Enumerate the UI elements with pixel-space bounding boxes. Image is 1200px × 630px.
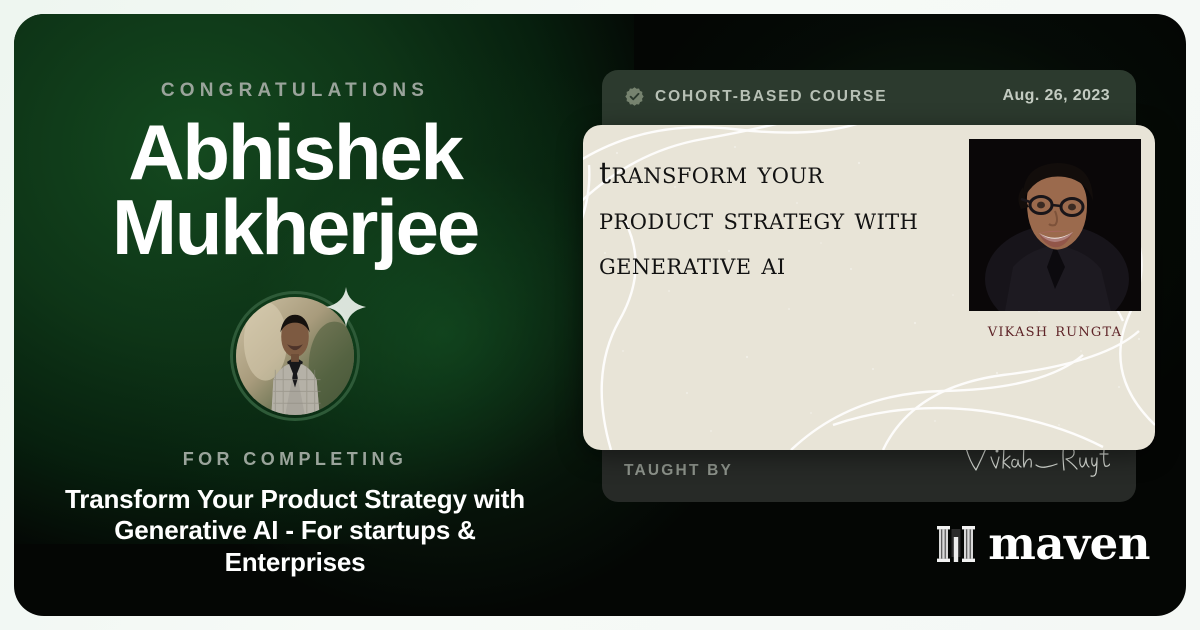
sparkle-icon — [322, 283, 370, 331]
for-completing-label: FOR COMPLETING — [183, 449, 408, 470]
maven-logo[interactable]: maven — [936, 521, 1150, 566]
course-type-group: COHORT-BASED COURSE — [624, 86, 887, 107]
congratulations-label: CONGRATULATIONS — [161, 80, 429, 102]
instructor-name: Vikash Rungta — [969, 320, 1141, 341]
verified-badge-icon — [624, 86, 645, 107]
avatar — [230, 291, 360, 421]
course-date: Aug. 26, 2023 — [1003, 86, 1110, 105]
course-hero: Transform Your Product Strategy with Gen… — [583, 125, 1155, 450]
recipient-section: CONGRATULATIONS Abhishek Mukherjee — [14, 14, 576, 616]
course-type-label: COHORT-BASED COURSE — [655, 88, 887, 106]
course-title: Transform Your Product Strategy with Gen… — [599, 151, 944, 288]
course-card[interactable]: COHORT-BASED COURSE Aug. 26, 2023 TAUGHT… — [602, 70, 1136, 502]
recipient-name: Abhishek Mukherjee — [112, 115, 478, 265]
certificate-card: CONGRATULATIONS Abhishek Mukherjee — [14, 14, 1186, 616]
certificate-frame: CONGRATULATIONS Abhishek Mukherjee — [0, 0, 1200, 630]
pillars-icon — [936, 523, 976, 565]
instructor-block: Vikash Rungta — [969, 139, 1141, 341]
maven-wordmark: maven — [988, 521, 1150, 566]
recipient-last-name: Mukherjee — [112, 190, 478, 265]
recipient-first-name: Abhishek — [112, 115, 478, 190]
taught-by-label: TAUGHT BY — [624, 462, 733, 480]
instructor-photo — [969, 139, 1141, 311]
completed-course-title: Transform Your Product Strategy with Gen… — [60, 484, 530, 579]
